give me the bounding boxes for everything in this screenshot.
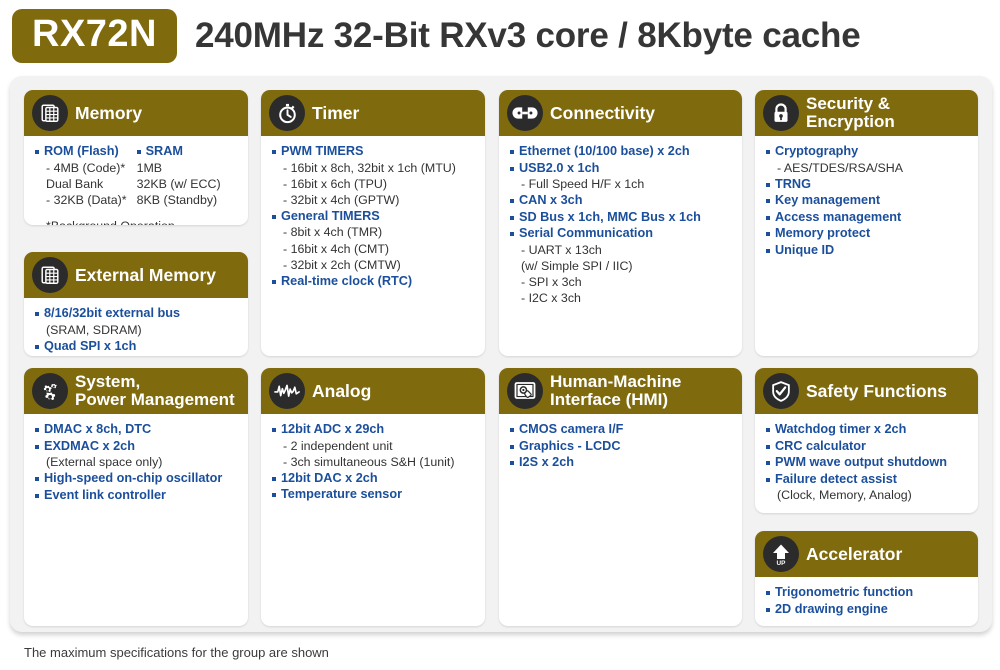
list-item: SRAM	[135, 143, 221, 160]
list-item: - Full Speed H/F x 1ch	[508, 176, 734, 192]
list-item: - 16bit x 4ch (CMT)	[270, 241, 477, 257]
list-item: USB2.0 x 1ch	[508, 160, 734, 177]
card-header-analog: Analog	[261, 368, 485, 414]
memory-column-b: SRAM 1MB 32KB (w/ ECC) 8KB (Standby)	[135, 143, 221, 208]
list-item: 12bit ADC x 29ch	[270, 421, 477, 438]
list-item: - I2C x 3ch	[508, 290, 734, 306]
list-item: - 16bit x 8ch, 32bit x 1ch (MTU)	[270, 160, 477, 176]
list-item: (External space only)	[33, 454, 240, 470]
connectivity-list: Ethernet (10/100 base) x 2ch USB2.0 x 1c…	[508, 143, 734, 306]
list-item: - 4MB (Code)*	[33, 160, 127, 176]
list-item: ROM (Flash)	[33, 143, 127, 160]
list-item: - 2 independent unit	[270, 438, 477, 454]
product-badge: RX72N	[12, 9, 177, 63]
list-item: Unique ID	[764, 242, 970, 259]
list-item: CMOS camera I/F	[508, 421, 734, 438]
svg-text:UP: UP	[777, 560, 787, 567]
accelerator-list: Trigonometric function 2D drawing engine	[764, 584, 970, 617]
card-title-system: System, Power Management	[75, 373, 235, 410]
list-item: PWM TIMERS	[270, 143, 477, 160]
list-item: - 32bit x 4ch (GPTW)	[270, 192, 477, 208]
list-item: Serial Communication	[508, 225, 734, 242]
list-item: - 8bit x 4ch (TMR)	[270, 224, 477, 240]
card-body-system: DMAC x 8ch, DTC EXDMAC x 2ch (External s…	[24, 414, 248, 509]
list-item: - 16bit x 6ch (TPU)	[270, 176, 477, 192]
list-item: Temperature sensor	[270, 486, 477, 503]
card-title-safety: Safety Functions	[806, 382, 947, 401]
hmi-list: CMOS camera I/F Graphics - LCDC I2S x 2c…	[508, 421, 734, 471]
list-item: 1MB	[135, 160, 221, 176]
card-body-external-memory: 8/16/32bit external bus (SRAM, SDRAM) Qu…	[24, 298, 248, 356]
list-item: Memory protect	[764, 225, 970, 242]
card-title-connectivity: Connectivity	[550, 104, 655, 123]
card-header-external-memory: External Memory	[24, 252, 248, 298]
card-body-analog: 12bit ADC x 29ch - 2 independent unit - …	[261, 414, 485, 509]
card-hmi[interactable]: Human-Machine Interface (HMI) CMOS camer…	[499, 368, 742, 626]
card-body-memory: ROM (Flash) - 4MB (Code)* Dual Bank - 32…	[24, 136, 248, 225]
list-item: 12bit DAC x 2ch	[270, 470, 477, 487]
card-body-security: Cryptography - AES/TDES/RSA/SHA TRNG Key…	[755, 136, 978, 264]
card-safety-functions[interactable]: Safety Functions Watchdog timer x 2ch CR…	[755, 368, 978, 513]
list-item: Dual Bank	[33, 176, 127, 192]
card-external-memory[interactable]: External Memory 8/16/32bit external bus …	[24, 252, 248, 356]
list-item: EXDMAC x 2ch	[33, 438, 240, 455]
list-item: Event link controller	[33, 487, 240, 504]
list-item: (w/ Simple SPI / IIC)	[508, 258, 734, 274]
page-header: RX72N 240MHz 32-Bit RXv3 core / 8Kbyte c…	[0, 0, 1000, 72]
list-item: TRNG	[764, 176, 970, 193]
timer-list: PWM TIMERS - 16bit x 8ch, 32bit x 1ch (M…	[270, 143, 477, 289]
list-item: - 32bit x 2ch (CMTW)	[270, 257, 477, 273]
memory-grid-icon	[32, 257, 68, 293]
page-title: 240MHz 32-Bit RXv3 core / 8Kbyte cache	[195, 16, 860, 56]
list-item: Access management	[764, 209, 970, 226]
card-body-connectivity: Ethernet (10/100 base) x 2ch USB2.0 x 1c…	[499, 136, 742, 312]
shield-check-icon	[763, 373, 799, 409]
card-security-encryption[interactable]: Security & Encryption Cryptography - AES…	[755, 90, 978, 356]
list-item: High-speed on-chip oscillator	[33, 470, 240, 487]
waveform-icon	[269, 373, 305, 409]
list-item: - UART x 13ch	[508, 242, 734, 258]
card-header-safety: Safety Functions	[755, 368, 978, 414]
memory-column-a: ROM (Flash) - 4MB (Code)* Dual Bank - 32…	[33, 143, 127, 208]
list-item: 8KB (Standby)	[135, 192, 221, 208]
card-body-hmi: CMOS camera I/F Graphics - LCDC I2S x 2c…	[499, 414, 742, 477]
list-item: Cryptography	[764, 143, 970, 160]
list-item: I2S x 2ch	[508, 454, 734, 471]
touchscreen-icon	[507, 373, 543, 409]
list-item: Quad SPI x 1ch	[33, 338, 240, 355]
card-body-safety: Watchdog timer x 2ch CRC calculator PWM …	[755, 414, 978, 509]
card-header-connectivity: Connectivity	[499, 90, 742, 136]
card-header-security: Security & Encryption	[755, 90, 978, 136]
list-item: Watchdog timer x 2ch	[764, 421, 970, 438]
card-analog[interactable]: Analog 12bit ADC x 29ch - 2 independent …	[261, 368, 485, 626]
card-header-accelerator: UP Accelerator	[755, 531, 978, 577]
list-item: - 3ch simultaneous S&H (1unit)	[270, 454, 477, 470]
features-panel: Memory ROM (Flash) - 4MB (Code)* Dual Ba…	[10, 76, 992, 632]
list-item: DMAC x 8ch, DTC	[33, 421, 240, 438]
card-connectivity[interactable]: Connectivity Ethernet (10/100 base) x 2c…	[499, 90, 742, 356]
card-timer[interactable]: Timer PWM TIMERS - 16bit x 8ch, 32bit x …	[261, 90, 485, 356]
card-header-hmi: Human-Machine Interface (HMI)	[499, 368, 742, 414]
memory-grid-icon	[32, 95, 68, 131]
lock-icon	[763, 95, 799, 131]
card-body-accelerator: Trigonometric function 2D drawing engine	[755, 577, 978, 623]
memory-footnote: *Background Operation	[33, 219, 240, 225]
security-list: Cryptography - AES/TDES/RSA/SHA TRNG Key…	[764, 143, 970, 258]
list-item: Failure detect assist	[764, 471, 970, 488]
card-title-analog: Analog	[312, 382, 371, 401]
list-item: Real-time clock (RTC)	[270, 273, 477, 290]
card-title-memory: Memory	[75, 104, 142, 123]
safety-list: Watchdog timer x 2ch CRC calculator PWM …	[764, 421, 970, 503]
list-item: PWM wave output shutdown	[764, 454, 970, 471]
card-title-timer: Timer	[312, 104, 359, 123]
card-header-system: System, Power Management	[24, 368, 248, 414]
card-title-hmi: Human-Machine Interface (HMI)	[550, 373, 681, 410]
card-body-timer: PWM TIMERS - 16bit x 8ch, 32bit x 1ch (M…	[261, 136, 485, 295]
list-item: (Clock, Memory, Analog)	[764, 487, 970, 503]
card-header-memory: Memory	[24, 90, 248, 136]
list-item: 8/16/32bit external bus	[33, 305, 240, 322]
footer-note: The maximum specifications for the group…	[24, 645, 329, 660]
card-header-timer: Timer	[261, 90, 485, 136]
card-title-security: Security & Encryption	[806, 95, 895, 132]
list-item: Trigonometric function	[764, 584, 970, 601]
card-memory[interactable]: Memory ROM (Flash) - 4MB (Code)* Dual Ba…	[24, 90, 248, 225]
list-item: 2D drawing engine	[764, 601, 970, 618]
list-item: General TIMERS	[270, 208, 477, 225]
stopwatch-icon	[269, 95, 305, 131]
card-title-accelerator: Accelerator	[806, 545, 902, 564]
card-accelerator[interactable]: UP Accelerator Trigonometric function 2D…	[755, 531, 978, 626]
gears-icon	[32, 373, 68, 409]
system-list: DMAC x 8ch, DTC EXDMAC x 2ch (External s…	[33, 421, 240, 503]
list-item: - SPI x 3ch	[508, 274, 734, 290]
list-item: Graphics - LCDC	[508, 438, 734, 455]
list-item: - AES/TDES/RSA/SHA	[764, 160, 970, 176]
list-item: CAN x 3ch	[508, 192, 734, 209]
list-item: 32KB (w/ ECC)	[135, 176, 221, 192]
up-arrow-icon: UP	[763, 536, 799, 572]
analog-list: 12bit ADC x 29ch - 2 independent unit - …	[270, 421, 477, 503]
list-item: Key management	[764, 192, 970, 209]
card-title-external-memory: External Memory	[75, 266, 216, 285]
card-system-power-management[interactable]: System, Power Management DMAC x 8ch, DTC…	[24, 368, 248, 626]
list-item: CRC calculator	[764, 438, 970, 455]
external-memory-list: 8/16/32bit external bus (SRAM, SDRAM) Qu…	[33, 305, 240, 354]
list-item: SD Bus x 1ch, MMC Bus x 1ch	[508, 209, 734, 226]
list-item: (SRAM, SDRAM)	[33, 322, 240, 338]
plug-connector-icon	[507, 95, 543, 131]
list-item: Ethernet (10/100 base) x 2ch	[508, 143, 734, 160]
list-item: - 32KB (Data)*	[33, 192, 127, 208]
